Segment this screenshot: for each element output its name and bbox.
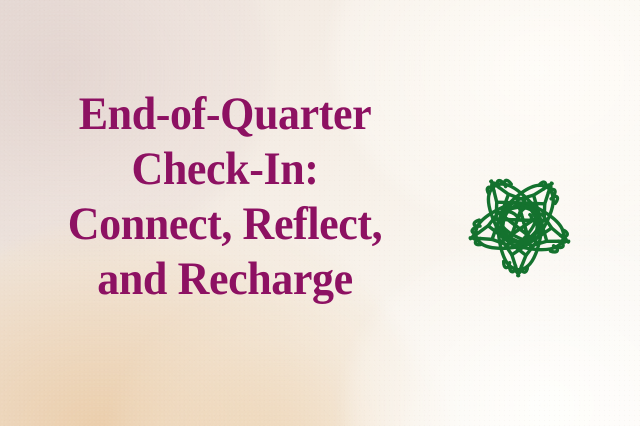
headline-line-2: Check-In: xyxy=(22,140,428,198)
headline-line-1: End-of-Quarter xyxy=(22,85,428,143)
poster-headline: End-of-Quarter Check-In: Connect, Reflec… xyxy=(22,88,428,308)
headline-line-4: and Recharge xyxy=(22,250,428,308)
teamwork-hands-illustration xyxy=(418,122,622,326)
headline-line-3: Connect, Reflect, xyxy=(22,195,428,253)
poster-canvas: End-of-Quarter Check-In: Connect, Reflec… xyxy=(0,0,640,426)
